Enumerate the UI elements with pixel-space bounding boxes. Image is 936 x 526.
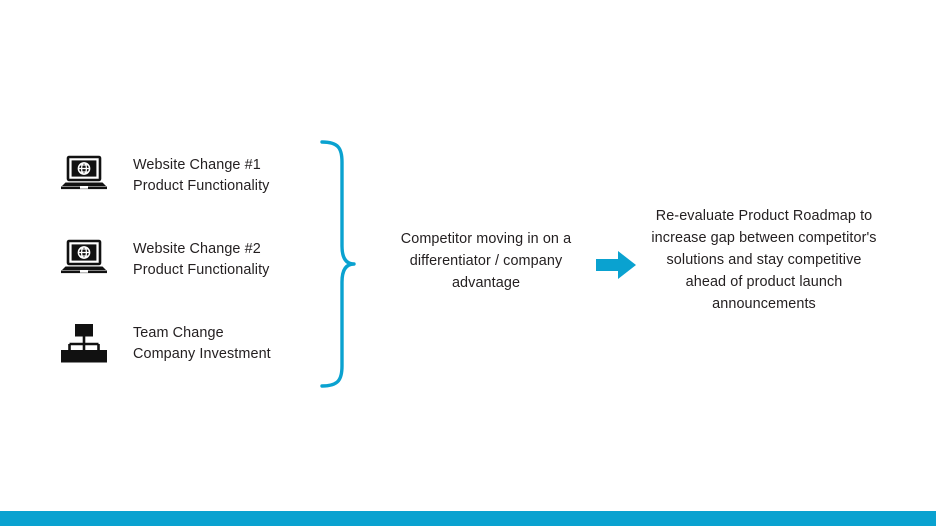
input-label-3: Team Change Company Investment: [133, 323, 271, 365]
right-arrow-icon: [596, 251, 636, 279]
insight-line2: differentiator / company: [386, 250, 586, 272]
input-label-1: Website Change #1 Product Functionality: [133, 155, 269, 197]
input-label-1-line1: Website Change #1: [133, 157, 261, 173]
outcome-line5: announcements: [633, 293, 895, 315]
input-label-2-line2: Product Functionality: [133, 260, 269, 281]
insight-line3: advantage: [386, 272, 586, 294]
outcome-line2: increase gap between competitor's: [633, 227, 895, 249]
input-label-2: Website Change #2 Product Functionality: [133, 239, 269, 281]
bottom-accent-bar: [0, 511, 936, 526]
outcome-line3: solutions and stay competitive: [633, 249, 895, 271]
outcome-text: Re-evaluate Product Roadmap to increase …: [633, 205, 895, 315]
right-curly-brace: [316, 138, 360, 390]
input-label-2-line1: Website Change #2: [133, 241, 261, 257]
input-label-3-line2: Company Investment: [133, 344, 271, 365]
insight-line1: Competitor moving in on a: [386, 228, 586, 250]
laptop-globe-icon: [58, 152, 110, 196]
input-label-1-line2: Product Functionality: [133, 176, 269, 197]
org-chart-icon: [58, 321, 110, 365]
laptop-globe-icon: [58, 236, 110, 280]
outcome-line4: ahead of product launch: [633, 271, 895, 293]
input-label-3-line1: Team Change: [133, 325, 224, 341]
slide-canvas: Website Change #1 Product Functionality …: [0, 0, 936, 526]
insight-text: Competitor moving in on a differentiator…: [386, 228, 586, 294]
outcome-line1: Re-evaluate Product Roadmap to: [633, 205, 895, 227]
